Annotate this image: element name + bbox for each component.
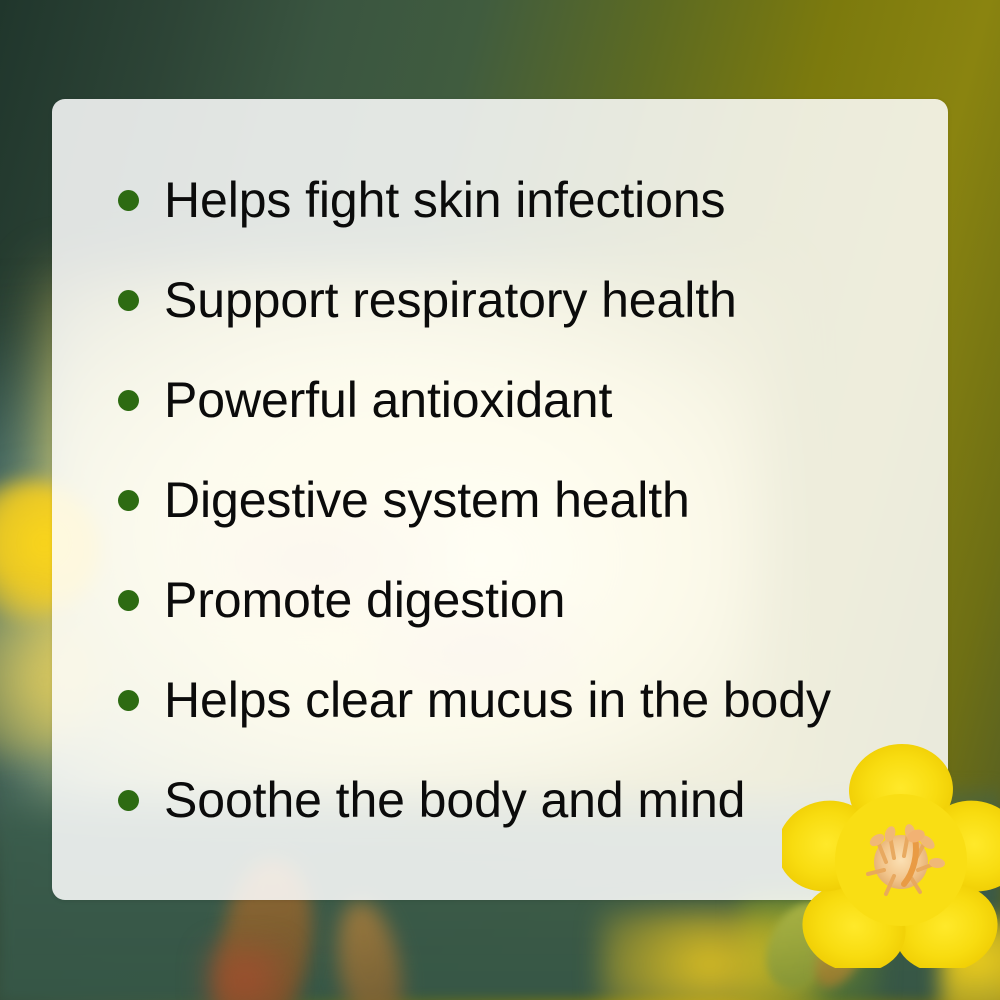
list-item: Promote digestion (118, 568, 565, 632)
benefit-text: Digestive system health (164, 475, 690, 525)
dot-bullet-icon (118, 790, 139, 811)
benefit-text: Helps clear mucus in the body (164, 675, 831, 725)
benefit-text: Support respiratory health (164, 275, 737, 325)
benefit-text: Soothe the body and mind (164, 775, 745, 825)
dot-bullet-icon (118, 390, 139, 411)
benefit-text: Powerful antioxidant (164, 375, 612, 425)
list-item: Powerful antioxidant (118, 368, 612, 432)
blurred-red-blossom (200, 940, 290, 1000)
dot-bullet-icon (118, 190, 139, 211)
list-item: Support respiratory health (118, 268, 737, 332)
dot-bullet-icon (118, 590, 139, 611)
yellow-flower-icon (782, 742, 1000, 968)
list-item: Helps fight skin infections (118, 168, 725, 232)
dot-bullet-icon (118, 490, 139, 511)
benefit-text: Promote digestion (164, 575, 565, 625)
dot-bullet-icon (118, 290, 139, 311)
list-item: Soothe the body and mind (118, 768, 745, 832)
dot-bullet-icon (118, 690, 139, 711)
benefit-text: Helps fight skin infections (164, 175, 725, 225)
benefits-graphic: Helps fight skin infections Support resp… (0, 0, 1000, 1000)
list-item: Digestive system health (118, 468, 690, 532)
list-item: Helps clear mucus in the body (118, 668, 831, 732)
